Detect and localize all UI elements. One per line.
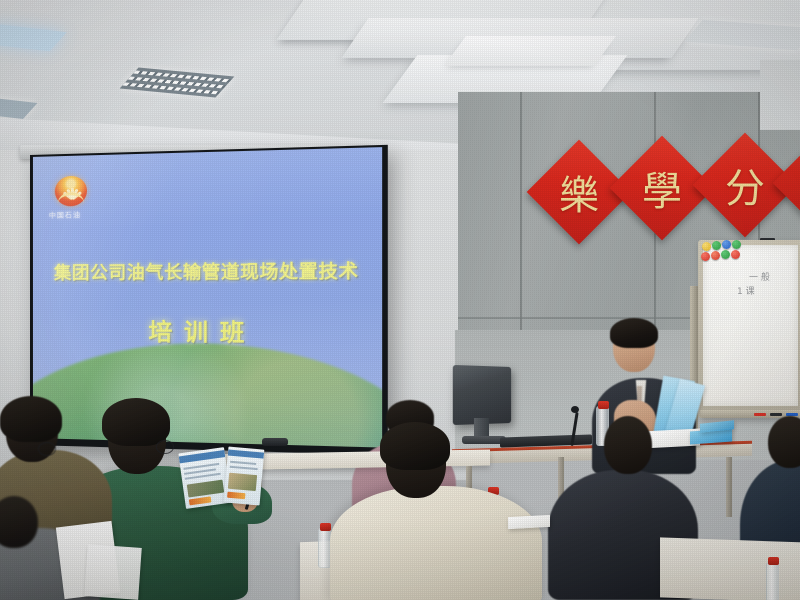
magnet-green-icon[interactable] — [712, 241, 721, 250]
attendee-hair — [380, 422, 450, 470]
banner-character: 樂 — [542, 155, 616, 229]
microphone-head-icon — [571, 406, 579, 413]
paper-stack — [508, 515, 550, 529]
banner-character: 學 — [625, 151, 699, 225]
attendee-hair — [102, 398, 170, 446]
eyeglasses-icon — [156, 440, 174, 454]
paper-stack — [84, 544, 141, 600]
whiteboard[interactable]: 一 般 1 课 — [698, 240, 800, 418]
recessed-louvre-light-icon — [0, 97, 37, 119]
marker-red-icon[interactable] — [754, 413, 766, 417]
recessed-louvre-light-icon — [0, 24, 67, 51]
magnet-red-icon[interactable] — [701, 252, 710, 261]
attendee-head — [768, 416, 800, 468]
attendee-torso — [330, 486, 542, 600]
magnet-red-icon[interactable] — [731, 250, 740, 259]
lcd-monitor — [453, 365, 511, 425]
upper-right-wall — [760, 60, 800, 130]
brochure-right-page — [224, 447, 265, 506]
banner-character: 分 — [708, 148, 782, 222]
ceiling-coffer-step — [444, 36, 616, 66]
presenter-hair — [610, 318, 658, 348]
attendee-head — [604, 416, 652, 474]
whiteboard-note-line: 1 课 — [737, 287, 755, 298]
magnet-yellow-icon[interactable] — [702, 242, 711, 251]
eyeglasses-icon — [38, 442, 56, 456]
marker-black-icon[interactable] — [770, 413, 782, 417]
magnet-red-icon[interactable] — [711, 251, 720, 260]
magnet-green-icon[interactable] — [721, 250, 730, 259]
audience-desk — [660, 537, 800, 600]
whiteboard-note-line: 一 般 — [749, 273, 770, 284]
magnet-green-icon[interactable] — [732, 240, 741, 249]
projection-screen: 中国石油 集团公司油气长输管道现场处置技术 培训班 — [30, 145, 388, 455]
banner-character: 享 — [788, 146, 800, 220]
table-leg — [726, 457, 732, 517]
magnet-blue-icon[interactable] — [722, 240, 731, 249]
attendee-hair — [0, 396, 62, 442]
projected-slide: 中国石油 集团公司油气长输管道现场处置技术 培训班 — [33, 147, 382, 447]
desk-object — [262, 438, 288, 446]
whiteboard-surface[interactable]: 一 般 1 课 — [703, 245, 798, 406]
screen-glare — [33, 147, 382, 447]
water-bottle — [766, 562, 779, 600]
recessed-louvre-light-icon — [120, 67, 235, 97]
training-room-photo: 樂 學 分 享 一 般 1 课 — [0, 0, 800, 600]
